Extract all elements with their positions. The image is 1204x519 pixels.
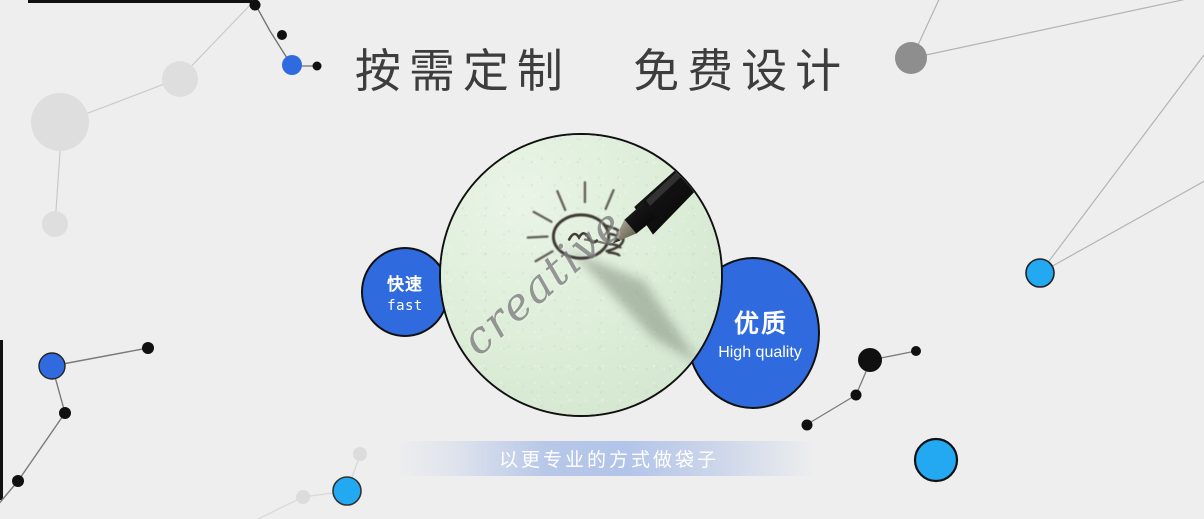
feature-label-en: High quality xyxy=(718,344,802,362)
deco-dot-black xyxy=(142,342,154,354)
deco-dot-black xyxy=(911,346,921,356)
deco-dot-black xyxy=(59,407,71,419)
deco-dot-black xyxy=(250,0,261,11)
headline-title: 按需定制 免费设计 xyxy=(0,46,1204,97)
deco-dot-black xyxy=(12,475,24,487)
deco-dot-cyan xyxy=(1026,259,1054,287)
deco-dot-black xyxy=(277,30,287,40)
deco-dot-cyan xyxy=(333,477,361,505)
deco-dot-gray-large xyxy=(31,93,89,151)
feature-label-en: fast xyxy=(387,298,423,314)
deco-dot-black-large xyxy=(858,348,882,372)
creative-photo-circle: creative xyxy=(439,133,723,417)
feature-label-cn: 优质 xyxy=(734,304,788,340)
cluster-bottom-left xyxy=(0,348,148,519)
feature-bubble-fast[interactable]: 快速 fast xyxy=(361,247,449,337)
cluster-bottom-right xyxy=(806,351,916,425)
deco-dot-cyan-large xyxy=(915,439,957,481)
deco-dot-blue xyxy=(39,353,65,379)
promo-banner: 按需定制 免费设计 快速 fast 优质 High quality xyxy=(0,0,1204,519)
cluster-top-left xyxy=(55,2,253,225)
slogan-text: 以更专业的方式做袋子 xyxy=(499,445,719,472)
slogan-banner: 以更专业的方式做袋子 xyxy=(395,441,815,476)
cluster-bottom-center xyxy=(258,455,360,519)
deco-dot-light-gray xyxy=(353,447,367,461)
cluster-top-right xyxy=(912,0,1204,273)
pen xyxy=(613,135,721,243)
feature-label-cn: 快速 xyxy=(387,270,423,295)
deco-dot-light-gray xyxy=(296,490,310,504)
deco-dot-black xyxy=(851,390,862,401)
deco-dot-black xyxy=(802,420,813,431)
deco-dot-gray-small xyxy=(42,211,68,237)
